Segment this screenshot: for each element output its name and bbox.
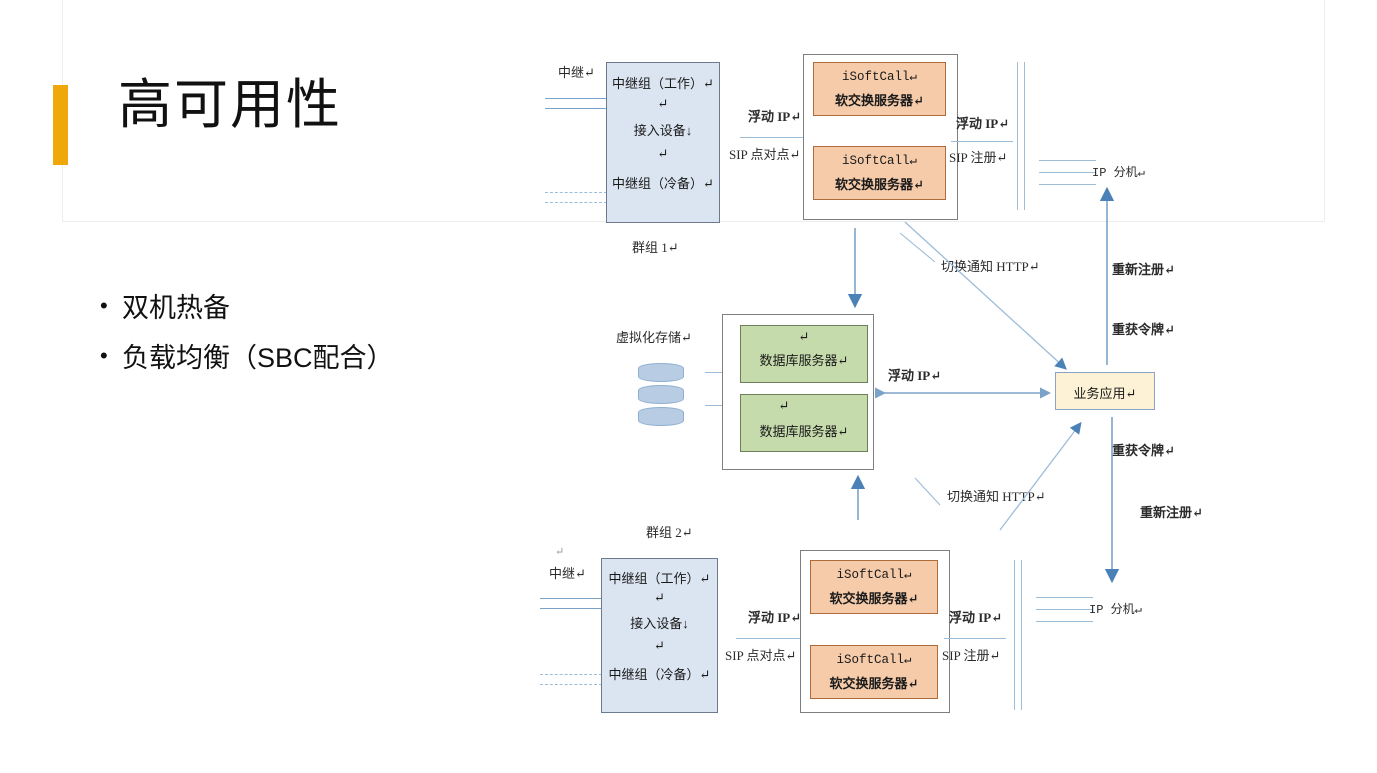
arrow-group1-to-app	[905, 222, 1065, 368]
leader-group2-notify	[915, 478, 940, 505]
slide-canvas: 高可用性 • 双机热备 • 负载均衡（SBC配合） 中继↵ 中继组（工作）↵ ↵…	[0, 0, 1377, 773]
arrow-group2-to-app	[1000, 424, 1080, 530]
architecture-diagram: 中继↵ 中继组（工作）↵ ↵ 接入设备↓ ↵ 中继组（冷备）↵ 群组 1↵ 浮动…	[0, 0, 1377, 773]
leader-group1-notify	[900, 233, 935, 262]
connector-layer	[0, 0, 1377, 773]
